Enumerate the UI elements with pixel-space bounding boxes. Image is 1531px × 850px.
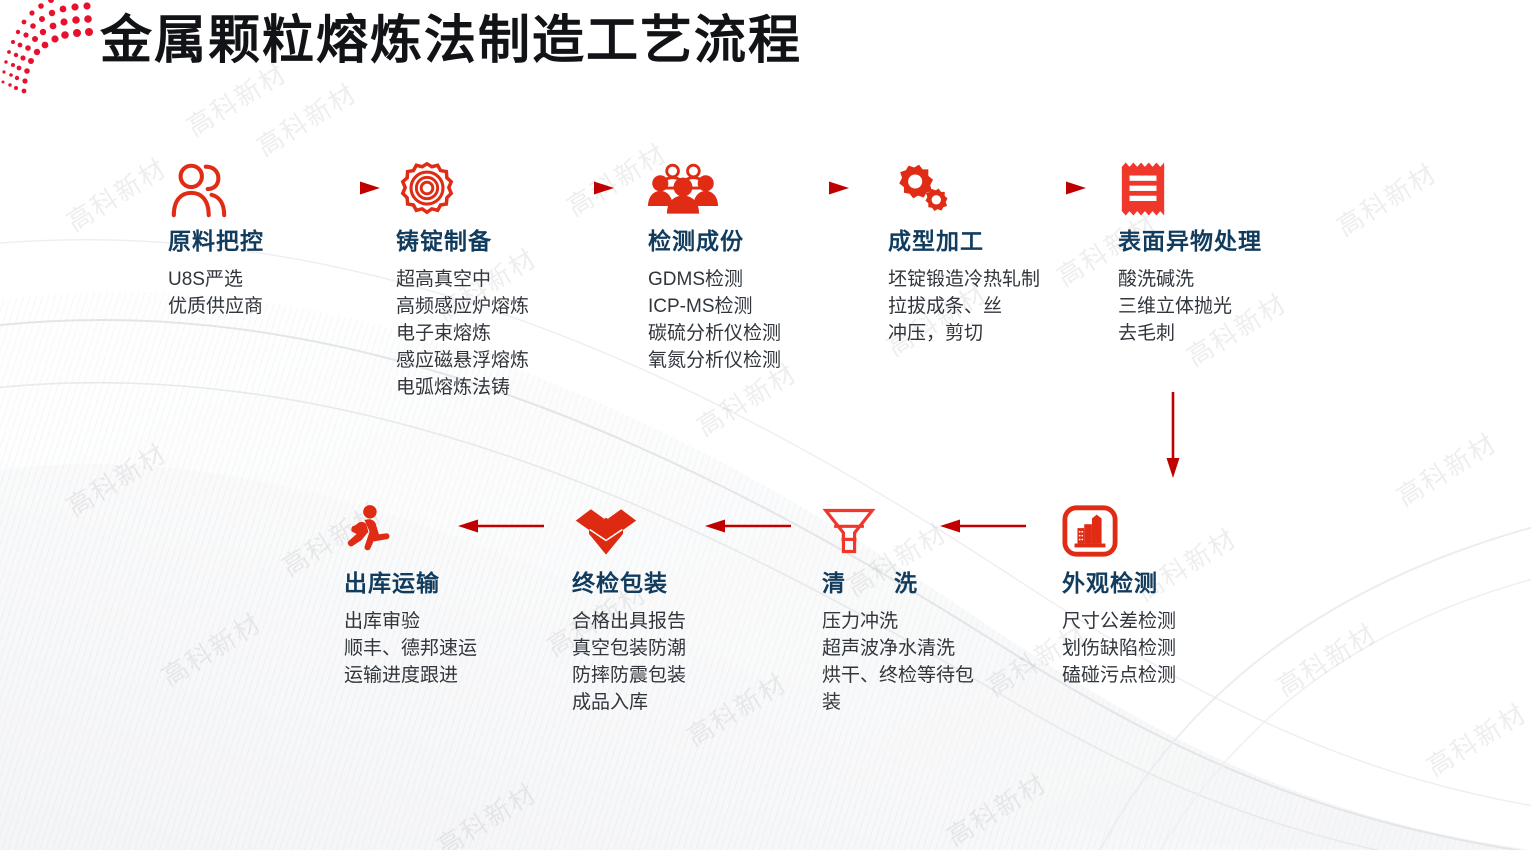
- step-detail-list: U8S严选 优质供应商: [168, 266, 393, 320]
- step-title: 检测成份: [648, 226, 883, 256]
- flow-step-1[interactable]: 原料把控 U8S严选 优质供应商: [168, 160, 393, 320]
- step-detail-line: 合格出具报告: [572, 608, 772, 635]
- step-title: 外观检测: [1062, 568, 1292, 598]
- step-detail-line: 氧氮分析仪检测: [648, 347, 883, 374]
- gear-rings-icon: [396, 160, 458, 218]
- step-detail-line: 防摔防震包装: [572, 662, 772, 689]
- step-detail-line: 烘干、终检等待包装: [822, 662, 982, 716]
- step-detail-line: 酸洗碱洗: [1118, 266, 1358, 293]
- step-detail-line: 感应磁悬浮熔炼: [396, 347, 621, 374]
- flow-step-7[interactable]: 清 洗 压力冲洗 超声波净水清洗 烘干、终检等待包装: [822, 502, 997, 716]
- step-detail-line: 出库审验: [344, 608, 544, 635]
- funnel-outline-icon: [822, 502, 876, 560]
- receipt-lines-icon: [1118, 160, 1168, 218]
- step-detail-line: 尺寸公差检测: [1062, 608, 1292, 635]
- step-title: 表面异物处理: [1118, 226, 1358, 256]
- step-detail-list: 压力冲洗 超声波净水清洗 烘干、终检等待包装: [822, 608, 982, 716]
- step-detail-line: 成品入库: [572, 689, 772, 716]
- step-title: 出库运输: [344, 568, 544, 598]
- step-detail-line: 磕碰污点检测: [1062, 662, 1292, 689]
- flow-step-2[interactable]: 铸锭制备 超高真空中 高频感应炉熔炼 电子束熔炼 感应磁悬浮熔炼 电弧熔炼法铸: [396, 160, 621, 401]
- step-detail-line: 拉拔成条、丝: [888, 293, 1138, 320]
- page-header: 金属颗粒熔炼法制造工艺流程: [0, 0, 1531, 92]
- step-detail-line: 压力冲洗: [822, 608, 982, 635]
- step-detail-line: 冲压，剪切: [888, 320, 1138, 347]
- step-detail-line: 划伤缺陷检测: [1062, 635, 1292, 662]
- step-detail-line: U8S严选: [168, 266, 393, 293]
- step-detail-line: 三维立体抛光: [1118, 293, 1358, 320]
- step-detail-line: 真空包装防潮: [572, 635, 772, 662]
- step-detail-list: 超高真空中 高频感应炉熔炼 电子束熔炼 感应磁悬浮熔炼 电弧熔炼法铸: [396, 266, 621, 401]
- step-detail-line: GDMS检测: [648, 266, 883, 293]
- flow-step-4[interactable]: 成型加工 坯锭锻造冷热轧制 拉拔成条、丝 冲压，剪切: [888, 160, 1138, 347]
- step-detail-line: 去毛刺: [1118, 320, 1358, 347]
- step-detail-line: 电弧熔炼法铸: [396, 374, 621, 401]
- step-detail-line: 电子束熔炼: [396, 320, 621, 347]
- step-detail-line: 优质供应商: [168, 293, 393, 320]
- flow-step-5[interactable]: 表面异物处理 酸洗碱洗 三维立体抛光 去毛刺: [1118, 160, 1358, 347]
- step-detail-line: 碳硫分析仪检测: [648, 320, 883, 347]
- walking-person-icon: [344, 502, 392, 560]
- step-detail-line: 超声波净水清洗: [822, 635, 982, 662]
- two-people-outline-icon: [168, 160, 230, 218]
- step-detail-line: 坯锭锻造冷热轧制: [888, 266, 1138, 293]
- step-detail-list: 尺寸公差检测 划伤缺陷检测 磕碰污点检测: [1062, 608, 1292, 689]
- flow-step-8[interactable]: 终检包装 合格出具报告 真空包装防潮 防摔防震包装 成品入库: [572, 502, 772, 716]
- step-title: 清 洗: [822, 568, 997, 598]
- step-title: 终检包装: [572, 568, 772, 598]
- factory-badge-icon: [1062, 502, 1118, 560]
- step-title: 原料把控: [168, 226, 393, 256]
- flow-step-9[interactable]: 出库运输 出库审验 顺丰、德邦速运 运输进度跟进: [344, 502, 544, 689]
- step-detail-list: GDMS检测 ICP-MS检测 碳硫分析仪检测 氧氮分析仪检测: [648, 266, 883, 374]
- arrow-step5-to-step6: [1164, 392, 1182, 478]
- step-title: 成型加工: [888, 226, 1138, 256]
- open-box-icon: [572, 502, 640, 560]
- step-detail-line: ICP-MS检测: [648, 293, 883, 320]
- step-detail-line: 运输进度跟进: [344, 662, 544, 689]
- process-flow-diagram: 原料把控 U8S严选 优质供应商 铸锭制备 超高真空中 高频感应炉熔炼 电子束熔…: [0, 0, 1531, 850]
- two-gears-icon: [888, 160, 948, 218]
- step-title: 铸锭制备: [396, 226, 621, 256]
- flow-step-3[interactable]: 检测成份 GDMS检测 ICP-MS检测 碳硫分析仪检测 氧氮分析仪检测: [648, 160, 883, 374]
- step-detail-list: 坯锭锻造冷热轧制 拉拔成条、丝 冲压，剪切: [888, 266, 1138, 347]
- step-detail-line: 超高真空中: [396, 266, 621, 293]
- page-title: 金属颗粒熔炼法制造工艺流程: [100, 5, 802, 77]
- people-group-icon: [648, 160, 718, 218]
- step-detail-list: 酸洗碱洗 三维立体抛光 去毛刺: [1118, 266, 1358, 347]
- step-detail-list: 出库审验 顺丰、德邦速运 运输进度跟进: [344, 608, 544, 689]
- step-detail-line: 高频感应炉熔炼: [396, 293, 621, 320]
- step-detail-line: 顺丰、德邦速运: [344, 635, 544, 662]
- step-detail-list: 合格出具报告 真空包装防潮 防摔防震包装 成品入库: [572, 608, 772, 716]
- flow-step-6[interactable]: 外观检测 尺寸公差检测 划伤缺陷检测 磕碰污点检测: [1062, 502, 1292, 689]
